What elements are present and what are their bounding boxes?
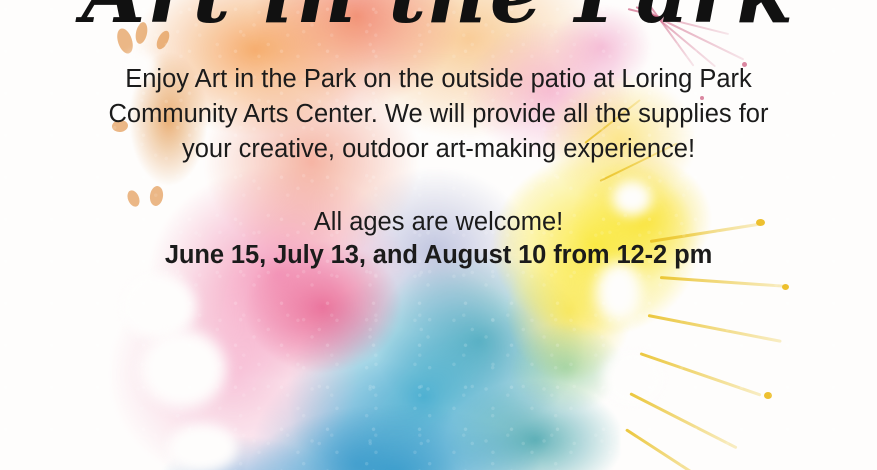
poster-closing-block: All ages are welcome! June 15, July 13, … [0,206,877,272]
dates-line: June 15, July 13, and August 10 from 12-… [0,238,877,272]
body-line: your creative, outdoor art-making experi… [0,132,877,167]
poster-body-copy: Enjoy Art in the Park on the outside pat… [0,62,877,167]
body-line: Community Arts Center. We will provide a… [0,97,877,132]
welcome-line: All ages are welcome! [0,206,877,238]
poster-canvas: Art in the Park Enjoy Art in the Park on… [0,0,877,470]
poster-title-script: Art in the Park [0,0,877,42]
body-line: Enjoy Art in the Park on the outside pat… [0,62,877,97]
